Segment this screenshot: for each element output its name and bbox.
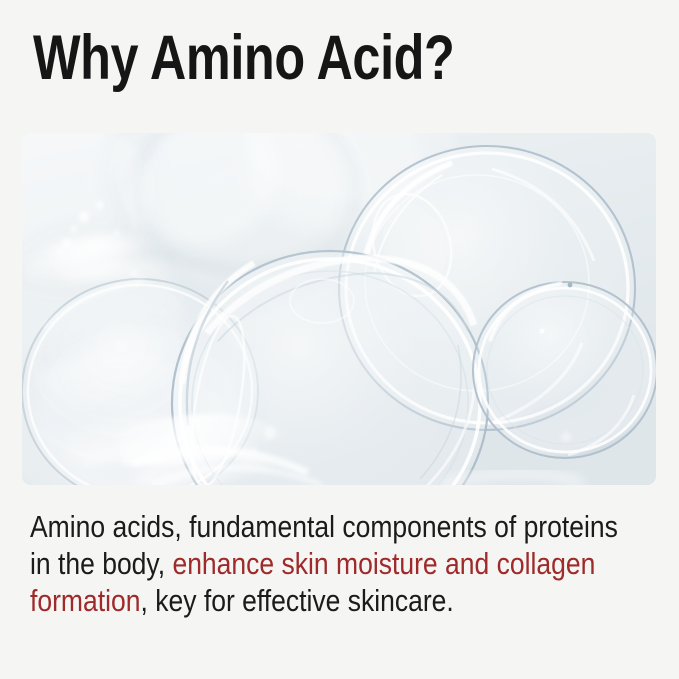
bubbles-illustration [22,133,656,485]
promo-panel: Why Amino Acid? [0,0,679,679]
body-line-1-text: Amino acids, fundamental components of p… [30,509,618,544]
body-highlight-part-2: formation [30,583,140,618]
page-title: Why Amino Acid? [33,22,529,94]
body-paragraph: Amino acids, fundamental components of p… [30,508,564,619]
body-line-3-suffix: , key for effective skincare. [140,583,453,618]
body-line-1: Amino acids, fundamental components of p… [30,508,564,545]
body-highlight-part-1: enhance skin moisture and collagen [172,546,595,581]
body-line-2-prefix: in the body, [30,546,172,581]
body-line-3: formation, key for effective skincare. [30,582,564,619]
body-line-2: in the body, enhance skin moisture and c… [30,545,564,582]
hero-image [22,133,656,485]
